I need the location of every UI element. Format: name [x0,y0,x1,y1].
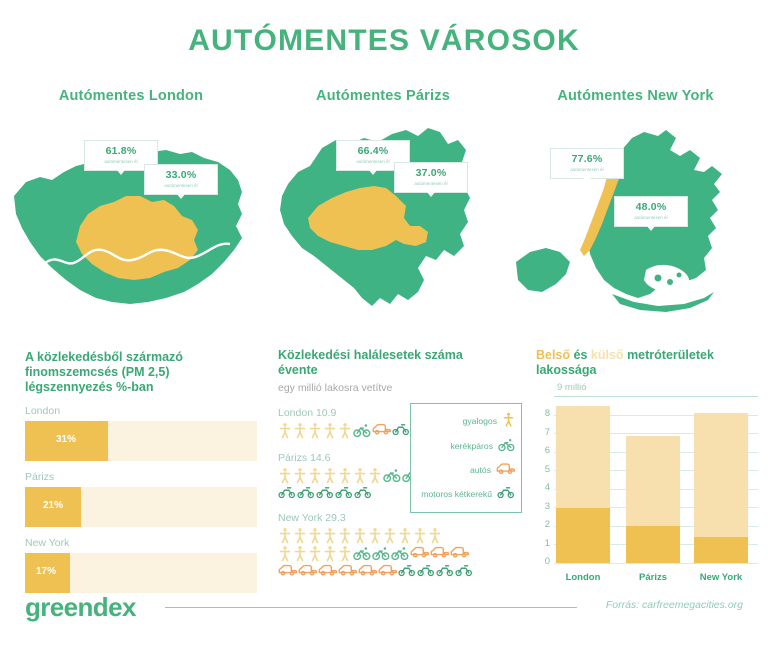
map-stage-london: 61.8% autómentesen él 33.0% autómentesen… [6,122,256,332]
motorcycle-icon [335,485,353,499]
legend-row-car: autós [417,462,515,480]
pm25-row: London 31% [25,405,257,461]
pm25-value: 21% [43,500,63,511]
legend-row-bicycle: kerékpáros [417,437,515,457]
pm25-row: Párizs 21% [25,471,257,527]
pedestrian-icon [308,422,322,439]
population-bar-outer [694,413,748,537]
brand-logo: greendex [25,592,136,623]
car-icon [430,545,449,559]
callout-sub: autómentesen él [559,167,615,172]
population-bar-paris: Párizs [626,436,680,564]
fatalities-city-label: New York 29.3 [278,512,493,524]
pm25-track: 17% [25,553,257,593]
footer: greendex Forrás: carfreemegacities.org [0,592,768,647]
ytick-6: 6 [536,445,550,456]
bicycle-icon [353,545,371,561]
car-icon [358,563,377,577]
pedestrian-icon [413,527,427,544]
car-icon [318,563,337,577]
bicycle-icon [498,437,515,457]
callout-sub: autómentesen él [623,215,679,220]
motorcycle-icon [497,485,515,504]
callout-pct: 61.8% [93,146,149,157]
legend-label: autós [470,466,491,476]
car-icon [372,422,391,436]
callout-ny-inner: 77.6% autómentesen él [550,148,624,179]
pedestrian-icon [338,545,352,562]
population-xlabel-london: London [556,572,610,583]
callout-paris-outer: 37.0% autómentesen él [394,162,468,193]
car-icon [278,563,297,577]
callout-pct: 33.0% [153,170,209,181]
pm25-value: 17% [36,566,56,577]
pedestrian-icon [293,422,307,439]
map-panel-paris: Autómentes Párizs 66.4% autómentesen él … [258,88,508,332]
car-icon [378,563,397,577]
ytick-5: 5 [536,464,550,475]
population-xlabel-newyork: New York [694,572,748,583]
pedestrian-icon [428,527,442,544]
ny-rockaway-strip [612,292,714,312]
ny-bay-island-1 [655,275,662,282]
population-bar-inner [694,537,748,563]
pm25-value: 31% [56,434,76,445]
ytick-1: 1 [536,538,550,549]
car-icon [338,563,357,577]
pedestrian-icon [383,527,397,544]
pictogram-rows-newyork [278,527,493,577]
motorcycle-icon [316,485,334,499]
map-title-london: Autómentes London [6,88,256,104]
map-panel-newyork: Autómentes New York 77.6% autómentesen é… [508,88,763,332]
ytick-2: 2 [536,519,550,530]
pedestrian-icon [338,422,352,439]
map-stage-paris: 66.4% autómentesen él 37.0% autómentesen… [258,122,508,332]
pedestrian-icon [323,422,337,439]
pedestrian-icon [293,527,307,544]
motorcycle-icon [297,485,315,499]
callout-ny-outer: 48.0% autómentesen él [614,196,688,227]
pm25-heading: A közlekedésből származó finomszemcsés (… [25,350,257,395]
bicycle-icon [391,545,409,561]
pm25-city-label: Párizs [25,471,257,483]
legend-row-motorcycle: motoros kétkerekű [417,485,515,504]
page-title: AUTÓMENTES VÁROSOK [0,24,768,58]
callout-pct: 37.0% [403,168,459,179]
callout-london-outer: 33.0% autómentesen él [144,164,218,195]
population-heading-outer: külső [591,348,624,362]
pm25-row: New York 17% [25,537,257,593]
car-icon [450,545,469,559]
map-title-paris: Autómentes Párizs [258,88,508,104]
pedestrian-icon [338,467,352,484]
population-bar-outer [556,406,610,508]
motorcycle-icon [436,563,454,577]
pedestrian-icon [293,467,307,484]
population-bar-outer [626,436,680,527]
pedestrian-icon [323,467,337,484]
population-bar-london: London [556,406,610,563]
map-title-newyork: Autómentes New York [508,88,763,104]
pedestrian-icon [278,467,292,484]
pedestrian-icon [308,545,322,562]
pedestrian-icon [338,527,352,544]
callout-pct: 48.0% [623,202,679,213]
ny-bay-island-2 [667,279,673,285]
population-heading: Belső és külső metróterületek lakossága [536,348,761,378]
pedestrian-icon [368,527,382,544]
pedestrian-icon [323,527,337,544]
population-chart: Belső és külső metróterületek lakossága … [536,348,761,581]
fatalities-legend: gyalogos kerékpáros autós motoros kétker… [410,403,522,513]
ytick-4: 4 [536,482,550,493]
pedestrian-icon [502,412,515,432]
ytick-7: 7 [536,427,550,438]
footer-divider [165,607,577,608]
callout-sub: autómentesen él [153,183,209,188]
pedestrian-icon [308,527,322,544]
car-icon [410,545,429,559]
callout-sub: autómentesen él [403,181,459,186]
population-bar-newyork: New York [694,413,748,563]
population-heading-and: és [574,348,588,362]
population-top-note: 9 millió [557,382,587,393]
callout-sub: autómentesen él [93,159,149,164]
motorcycle-icon [455,563,473,577]
pedestrian-icon [353,527,367,544]
bicycle-icon [372,545,390,561]
pm25-city-label: London [25,405,257,417]
bicycle-icon [383,467,401,483]
callout-pct: 77.6% [559,154,615,165]
pm25-track: 21% [25,487,257,527]
population-bar-inner [626,526,680,563]
map-panel-london: Autómentes London 61.8% autómentesen él … [6,88,256,332]
pedestrian-icon [353,467,367,484]
fatalities-city-newyork: New York 29.3 [278,512,493,577]
pedestrian-icon [398,527,412,544]
pedestrian-icon [278,527,292,544]
motorcycle-icon [392,422,410,436]
fatalities-subheading: egy millió lakosra vetítve [278,382,493,394]
motorcycle-icon [417,563,435,577]
population-heading-inner: Belső [536,348,570,362]
gridline-9 [554,396,758,397]
motorcycle-icon [398,563,416,577]
car-icon [496,462,515,480]
bicycle-icon [353,422,371,438]
legend-label: motoros kétkerekű [421,490,492,500]
population-xlabel-paris: Párizs [626,572,680,583]
callout-pct: 66.4% [345,146,401,157]
motorcycle-icon [278,485,296,499]
ytick-8: 8 [536,408,550,419]
pedestrian-icon [278,422,292,439]
pm25-chart: A közlekedésből származó finomszemcsés (… [25,350,257,593]
legend-row-pedestrian: gyalogos [417,412,515,432]
car-icon [298,563,317,577]
legend-label: kerékpáros [450,442,493,452]
pm25-track: 31% [25,421,257,461]
source-text: Forrás: carfreemegacities.org [606,599,743,611]
ytick-3: 3 [536,501,550,512]
pedestrian-icon [323,545,337,562]
pedestrian-icon [293,545,307,562]
population-plot-area: 9 millió 8 7 6 5 4 3 2 1 0 [536,396,758,581]
pm25-city-label: New York [25,537,257,549]
ny-bay-island-3 [677,273,682,278]
infographic-page: AUTÓMENTES VÁROSOK Autómentes London 61.… [0,0,768,647]
ny-staten-island [516,248,570,292]
map-stage-newyork: 77.6% autómentesen él 48.0% autómentesen… [508,122,763,332]
motorcycle-icon [354,485,372,499]
fatalities-heading: Közlekedési halálesetek száma évente [278,348,493,378]
callout-sub: autómentesen él [345,159,401,164]
pedestrian-icon [278,545,292,562]
pedestrian-icon [368,467,382,484]
pedestrian-icon [308,467,322,484]
population-bar-inner [556,508,610,564]
ytick-0: 0 [536,556,550,567]
legend-label: gyalogos [463,417,497,427]
